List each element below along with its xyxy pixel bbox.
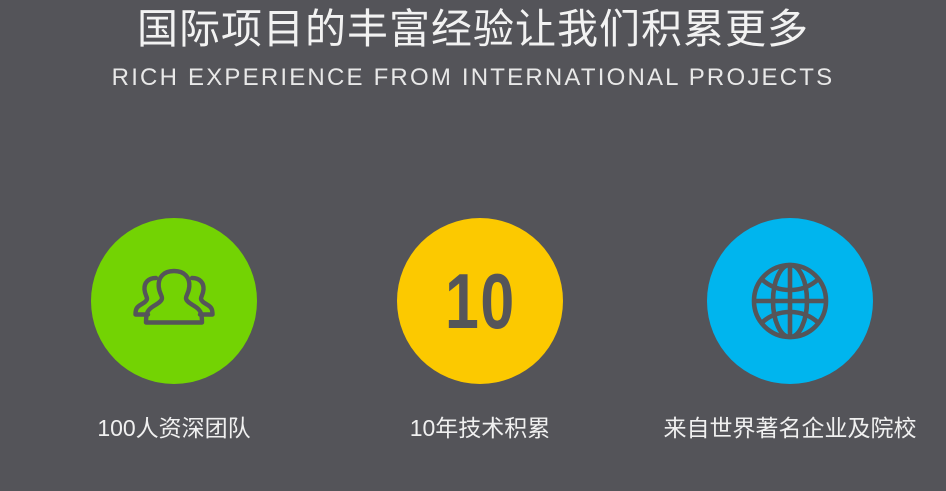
page-subtitle: RICH EXPERIENCE FROM INTERNATIONAL PROJE… xyxy=(0,54,946,93)
slide-header: 国际项目的丰富经验让我们积累更多 RICH EXPERIENCE FROM IN… xyxy=(0,0,946,93)
stat-card-years: 10 10年技术积累 xyxy=(330,218,630,442)
icon-badge-yellow: 10 xyxy=(397,218,563,384)
slide-root: 国际项目的丰富经验让我们积累更多 RICH EXPERIENCE FROM IN… xyxy=(0,0,946,491)
stat-card-caption: 100人资深团队 xyxy=(24,384,324,442)
stat-card-team: 100人资深团队 xyxy=(24,218,324,442)
stat-card-caption: 来自世界著名企业及院校 xyxy=(640,384,940,442)
icon-badge-blue xyxy=(707,218,873,384)
globe-icon xyxy=(744,255,836,347)
stats-card-row: 100人资深团队 10 10年技术积累 来自世界著名企业及院校 xyxy=(0,218,946,458)
stat-card-caption: 10年技术积累 xyxy=(330,384,630,442)
page-title: 国际项目的丰富经验让我们积累更多 xyxy=(0,0,946,54)
number-badge-icon: 10 xyxy=(445,262,516,340)
people-group-icon xyxy=(126,261,222,341)
icon-badge-green xyxy=(91,218,257,384)
stat-card-origin: 来自世界著名企业及院校 xyxy=(640,218,940,442)
